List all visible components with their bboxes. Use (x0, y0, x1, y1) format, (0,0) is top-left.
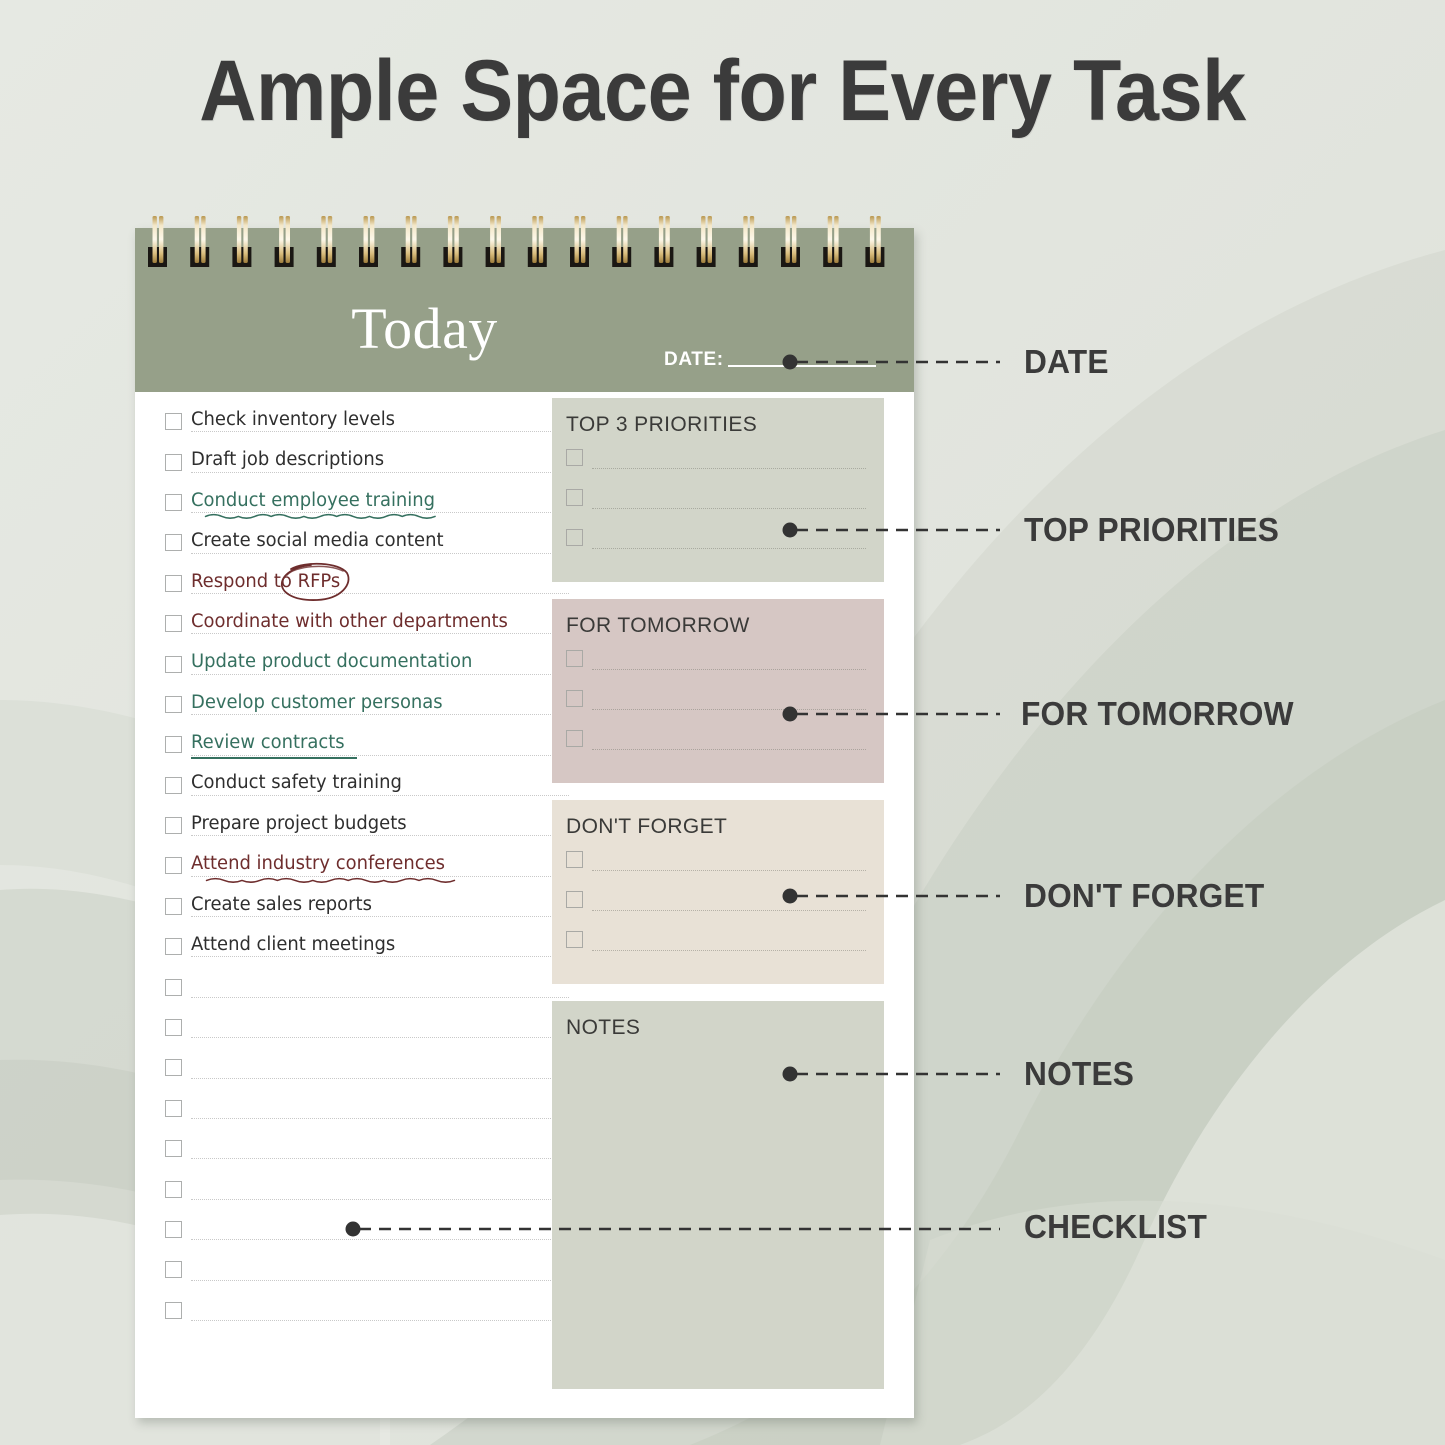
annotation-label: CHECKLIST (1024, 1210, 1207, 1243)
section-checklist-row[interactable] (566, 729, 870, 769)
checklist-row[interactable]: Coordinate with other departments (165, 603, 569, 643)
checkbox-icon[interactable] (165, 1261, 182, 1278)
spiral-hole (443, 247, 462, 267)
checkbox-icon[interactable] (165, 736, 182, 753)
checkbox-icon[interactable] (165, 454, 182, 471)
checkbox-icon[interactable] (165, 696, 182, 713)
dotted-write-line (191, 472, 569, 473)
checklist-row[interactable]: Prepare project budgets (165, 805, 569, 845)
checkbox-icon[interactable] (165, 575, 182, 592)
checklist-row[interactable]: Review contracts (165, 724, 569, 764)
dotted-write-line (191, 1199, 569, 1200)
spiral-coil (328, 216, 332, 263)
checklist-row[interactable]: Respond to RFPs (165, 563, 569, 603)
annotation-label: NOTES (1024, 1057, 1134, 1090)
checkbox-icon[interactable] (566, 931, 583, 948)
spiral-coil (243, 216, 247, 263)
spiral-hole (612, 247, 631, 267)
dotted-write-line (191, 714, 569, 715)
date-field[interactable]: DATE: (664, 350, 876, 369)
dotted-write-line (191, 431, 569, 432)
spiral-coil (532, 216, 536, 263)
section-checklist-row[interactable] (566, 890, 870, 930)
checkbox-icon[interactable] (566, 730, 583, 747)
checklist-item-label: Conduct safety training (191, 774, 402, 795)
checklist-row[interactable] (165, 1290, 569, 1330)
spiral-coil (279, 216, 283, 263)
section-checklist-row[interactable] (566, 488, 870, 528)
spiral-coil (743, 216, 747, 263)
spiral-hole (570, 247, 589, 267)
checkbox-icon[interactable] (165, 413, 182, 430)
dotted-write-line (191, 1037, 569, 1038)
checklist-item-label: Review contracts (191, 734, 345, 755)
spiral-coil (659, 216, 663, 263)
straight-underline-mark (191, 757, 357, 759)
spiral-hole (486, 247, 505, 267)
dotted-write-line (191, 835, 569, 836)
dotted-write-line (592, 910, 866, 911)
dotted-write-line (592, 870, 866, 871)
checkbox-icon[interactable] (566, 650, 583, 667)
section-checklist-row[interactable] (566, 689, 870, 729)
checklist-row[interactable] (165, 1168, 569, 1208)
spiral-hole (232, 247, 251, 267)
spiral-coil (201, 216, 205, 263)
section-title: DON'T FORGET (566, 816, 870, 837)
checkbox-icon[interactable] (165, 1059, 182, 1076)
spiral-binding (135, 206, 914, 276)
checkbox-icon[interactable] (165, 979, 182, 996)
checkbox-icon[interactable] (566, 690, 583, 707)
section-box: FOR TOMORROW (552, 599, 884, 783)
checkbox-icon[interactable] (165, 938, 182, 955)
spiral-coil (321, 216, 325, 263)
date-write-line[interactable] (728, 365, 876, 367)
section-checklist-row[interactable] (566, 930, 870, 970)
section-title: NOTES (566, 1017, 870, 1038)
checklist-row[interactable]: Develop customer personas (165, 684, 569, 724)
section-title: FOR TOMORROW (566, 615, 870, 636)
spiral-hole (401, 247, 420, 267)
spiral-hole (739, 247, 758, 267)
spiral-coil (623, 216, 627, 263)
dotted-write-line (191, 1239, 569, 1240)
checkbox-icon[interactable] (566, 529, 583, 546)
dotted-write-line (592, 468, 866, 469)
spiral-coil (412, 216, 416, 263)
checklist-row[interactable] (165, 1047, 569, 1087)
dotted-write-line (191, 1078, 569, 1079)
dotted-write-line (191, 795, 569, 796)
checklist-row[interactable]: Draft job descriptions (165, 441, 569, 481)
checkbox-icon[interactable] (566, 449, 583, 466)
checklist-row[interactable] (165, 1128, 569, 1168)
spiral-coil (786, 216, 790, 263)
annotation-label: DON'T FORGET (1024, 879, 1264, 912)
checklist-row[interactable] (165, 966, 569, 1006)
spiral-coil (370, 216, 374, 263)
section-box: DON'T FORGET (552, 800, 884, 984)
checklist-item-label: Check inventory levels (191, 411, 395, 432)
checkbox-icon[interactable] (165, 1100, 182, 1117)
annotation-label: DATE (1024, 345, 1109, 378)
section-checklist-row[interactable] (566, 448, 870, 488)
section-title: TOP 3 PRIORITIES (566, 414, 870, 435)
checklist-row[interactable] (165, 1209, 569, 1249)
checkbox-icon[interactable] (165, 615, 182, 632)
spiral-coil (708, 216, 712, 263)
dotted-write-line (191, 997, 569, 998)
date-label: DATE: (664, 350, 724, 369)
spiral-coil (792, 216, 796, 263)
section-rows (566, 850, 870, 984)
checklist-row[interactable]: Check inventory levels (165, 401, 569, 441)
checklist-row[interactable]: Conduct employee training (165, 482, 569, 522)
checkbox-icon[interactable] (165, 1019, 182, 1036)
notepad-body: Check inventory levelsDraft job descript… (135, 392, 914, 1418)
spiral-coil (828, 216, 832, 263)
checklist-row[interactable]: Conduct safety training (165, 765, 569, 805)
checklist-row[interactable]: Create sales reports (165, 886, 569, 926)
section-box: TOP 3 PRIORITIES (552, 398, 884, 582)
dotted-write-line (592, 508, 866, 509)
checkbox-icon[interactable] (165, 898, 182, 915)
checklist-row[interactable]: Attend industry conferences (165, 845, 569, 885)
spiral-coil (159, 216, 163, 263)
spiral-hole (148, 247, 167, 267)
checklist-column: Check inventory levelsDraft job descript… (165, 401, 569, 1330)
spiral-hole (654, 247, 673, 267)
spiral-coil (286, 216, 290, 263)
checklist-item-label: Respond to RFPs (191, 573, 340, 594)
dotted-write-line (191, 876, 569, 877)
spiral-hole (781, 247, 800, 267)
page-title: Ample Space for Every Task (58, 42, 1387, 141)
spiral-coil (490, 216, 494, 263)
dotted-write-line (191, 956, 569, 957)
checklist-row[interactable] (165, 1088, 569, 1128)
checkbox-icon[interactable] (165, 1221, 182, 1238)
checklist-item-label: Prepare project budgets (191, 815, 407, 836)
spiral-hole (697, 247, 716, 267)
dotted-write-line (191, 553, 569, 554)
dotted-write-line (191, 1320, 569, 1321)
spiral-coil (750, 216, 754, 263)
spiral-coil (153, 216, 157, 263)
spiral-coil (539, 216, 543, 263)
dotted-write-line (592, 709, 866, 710)
spiral-coil (195, 216, 199, 263)
dotted-write-line (191, 755, 569, 756)
notepad: Today DATE: Check inventory levelsDraft … (135, 228, 914, 1418)
section-checklist-row[interactable] (566, 528, 870, 568)
checkbox-icon[interactable] (165, 1181, 182, 1198)
spiral-hole (359, 247, 378, 267)
spiral-coil (701, 216, 705, 263)
spiral-coil (870, 216, 874, 263)
spiral-coil (876, 216, 880, 263)
spiral-coil (237, 216, 241, 263)
checklist-item-label: Coordinate with other departments (191, 613, 508, 634)
spiral-coil (617, 216, 621, 263)
checkbox-icon[interactable] (165, 494, 182, 511)
section-rows (566, 448, 870, 582)
spiral-coil (575, 216, 579, 263)
dotted-write-line (191, 674, 569, 675)
dotted-write-line (592, 669, 866, 670)
spiral-hole (317, 247, 336, 267)
checklist-item-label: Update product documentation (191, 653, 472, 674)
checklist-row[interactable]: Attend client meetings (165, 926, 569, 966)
spiral-coil (406, 216, 410, 263)
checklist-row[interactable] (165, 1007, 569, 1047)
spiral-coil (497, 216, 501, 263)
spiral-coil (448, 216, 452, 263)
checklist-row[interactable]: Update product documentation (165, 643, 569, 683)
section-checklist-row[interactable] (566, 850, 870, 890)
checkbox-icon[interactable] (566, 851, 583, 868)
spiral-coil (834, 216, 838, 263)
section-rows (566, 649, 870, 783)
checkbox-icon[interactable] (165, 1140, 182, 1157)
spiral-hole (865, 247, 884, 267)
sections-column: TOP 3 PRIORITIESFOR TOMORROWDON'T FORGET… (552, 398, 884, 1389)
checkbox-icon[interactable] (165, 534, 182, 551)
dotted-write-line (191, 1158, 569, 1159)
checkbox-icon[interactable] (165, 817, 182, 834)
dotted-write-line (592, 548, 866, 549)
checkbox-icon[interactable] (566, 891, 583, 908)
dotted-write-line (191, 512, 569, 513)
spiral-coil (665, 216, 669, 263)
checklist-item-label: Conduct employee training (191, 492, 435, 513)
dotted-write-line (191, 1280, 569, 1281)
annotation-label: TOP PRIORITIES (1024, 513, 1279, 546)
checkbox-icon[interactable] (165, 857, 182, 874)
spiral-coil (454, 216, 458, 263)
checklist-item-label: Attend industry conferences (191, 855, 445, 876)
section-checklist-row[interactable] (566, 649, 870, 689)
spiral-hole (190, 247, 209, 267)
dotted-write-line (592, 749, 866, 750)
checkbox-icon[interactable] (566, 489, 583, 506)
spiral-hole (275, 247, 294, 267)
spiral-hole (528, 247, 547, 267)
checklist-item-label: Create sales reports (191, 896, 372, 917)
checklist-item-label: Draft job descriptions (191, 451, 384, 472)
spiral-coil (364, 216, 368, 263)
checklist-row[interactable]: Create social media content (165, 522, 569, 562)
section-box: NOTES (552, 1001, 884, 1389)
spiral-coil (581, 216, 585, 263)
dotted-write-line (191, 633, 569, 634)
checklist-item-label: Create social media content (191, 532, 444, 553)
checklist-item-label: Develop customer personas (191, 694, 443, 715)
checkbox-icon[interactable] (165, 1302, 182, 1319)
dotted-write-line (592, 950, 866, 951)
dotted-write-line (191, 1118, 569, 1119)
checkbox-icon[interactable] (165, 656, 182, 673)
checklist-item-label: Attend client meetings (191, 936, 395, 957)
annotation-label: FOR TOMORROW (1021, 697, 1294, 730)
spiral-hole (823, 247, 842, 267)
checkbox-icon[interactable] (165, 777, 182, 794)
dotted-write-line (191, 916, 569, 917)
checklist-row[interactable] (165, 1249, 569, 1289)
dotted-write-line (191, 593, 569, 594)
